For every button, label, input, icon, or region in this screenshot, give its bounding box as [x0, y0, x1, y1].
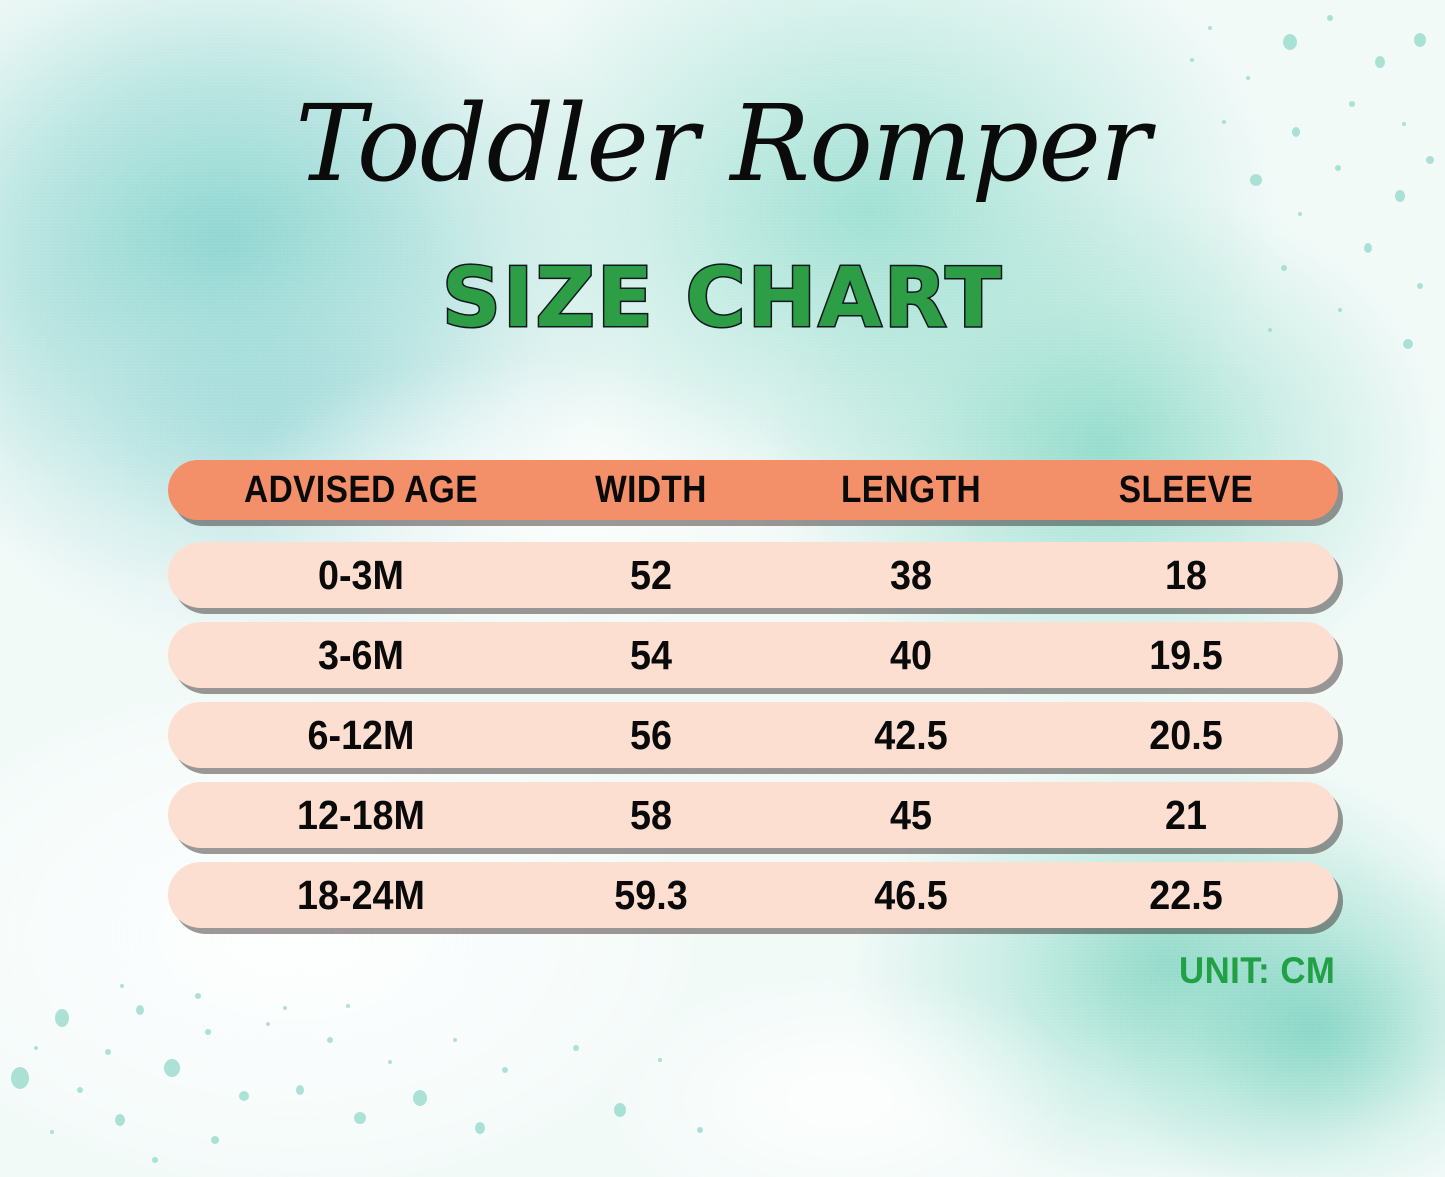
cell-length: 38	[787, 552, 1035, 599]
table-row: 0-3M 52 38 18	[168, 542, 1338, 608]
cell-width: 59.3	[536, 872, 766, 919]
column-header-advised-age: ADVISED AGE	[216, 469, 506, 512]
cell-advised-age: 3-6M	[209, 632, 513, 679]
table-header-row: ADVISED AGE WIDTH LENGTH SLEEVE	[168, 460, 1338, 520]
cell-length: 45	[787, 792, 1035, 839]
table-row: 12-18M 58 45 21	[168, 782, 1338, 848]
cell-advised-age: 12-18M	[209, 792, 513, 839]
cell-advised-age: 18-24M	[209, 872, 513, 919]
column-header-width: WIDTH	[541, 469, 761, 512]
table-row: 18-24M 59.3 46.5 22.5	[168, 862, 1338, 928]
cell-length: 42.5	[787, 712, 1035, 759]
cell-sleeve: 22.5	[1057, 872, 1315, 919]
cell-length: 40	[787, 632, 1035, 679]
cell-width: 54	[536, 632, 766, 679]
cell-sleeve: 19.5	[1057, 632, 1315, 679]
cell-sleeve: 21	[1057, 792, 1315, 839]
size-chart-table: ADVISED AGE WIDTH LENGTH SLEEVE 0-3M 52 …	[168, 460, 1338, 928]
column-header-length: LENGTH	[792, 469, 1030, 512]
size-chart-poster: Toddler Romper SIZE CHART ADVISED AGE WI…	[0, 0, 1445, 1177]
cell-advised-age: 0-3M	[209, 552, 513, 599]
cell-width: 58	[536, 792, 766, 839]
table-row: 3-6M 54 40 19.5	[168, 622, 1338, 688]
cell-length: 46.5	[787, 872, 1035, 919]
column-header-sleeve: SLEEVE	[1063, 469, 1309, 512]
cell-advised-age: 6-12M	[209, 712, 513, 759]
cell-sleeve: 18	[1057, 552, 1315, 599]
cell-sleeve: 20.5	[1057, 712, 1315, 759]
cell-width: 56	[536, 712, 766, 759]
cell-width: 52	[536, 552, 766, 599]
page-title: Toddler Romper	[0, 88, 1445, 199]
unit-note: UNIT: CM	[1179, 950, 1335, 992]
table-row: 6-12M 56 42.5 20.5	[168, 702, 1338, 768]
page-subtitle: SIZE CHART	[0, 258, 1445, 340]
